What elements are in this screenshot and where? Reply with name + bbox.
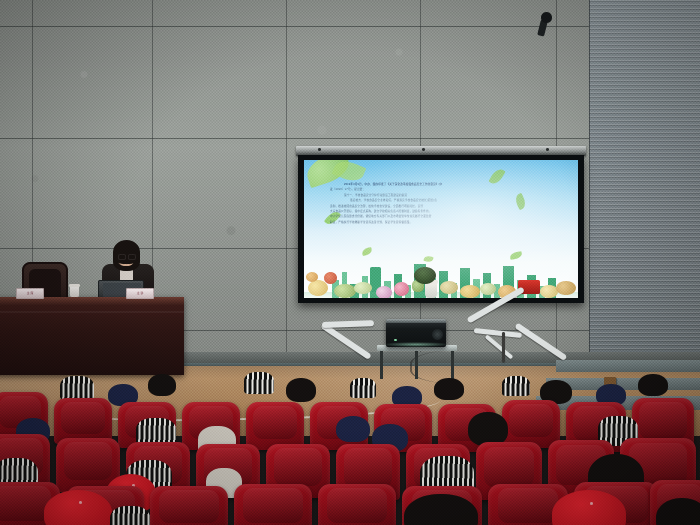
- auditorium-seat[interactable]: [150, 486, 228, 525]
- screen-frame: 2019年3月9日，中办、国办印发了《关于深化改革加强食品安全工作的意见》(中 …: [298, 155, 584, 303]
- audience-person: [638, 374, 668, 396]
- auditorium-seat[interactable]: [234, 484, 312, 525]
- projection-screen: 2019年3月9日，中办、国办印发了《关于深化改革加强食品安全工作的意见》(中 …: [296, 146, 586, 304]
- cap-button-dot: [590, 502, 593, 505]
- auditorium-photo: 2019年3月9日，中办、国办印发了《关于深化改革加强食品安全工作的意见》(中 …: [0, 0, 700, 525]
- head-table: [0, 297, 184, 375]
- projected-slide: 2019年3月9日，中办、国办印发了《关于深化改革加强食品安全工作的意见》(中 …: [304, 160, 578, 298]
- paper-cup: [70, 286, 79, 297]
- projector-lens-icon: [432, 329, 443, 340]
- audience-area: [0, 372, 700, 525]
- audience-person: [60, 376, 94, 400]
- projector-power-led: [394, 339, 397, 341]
- glasses-icon: [118, 254, 135, 258]
- security-camera-icon: [538, 12, 552, 32]
- auditorium-seat[interactable]: [502, 400, 560, 448]
- audience-person: [350, 378, 376, 398]
- auditorium-seat[interactable]: [318, 484, 396, 525]
- slide-line: 职责，严格执行学校教职学生营养改善计划，保证学生营养餐质量。: [330, 220, 554, 225]
- cap-button-dot: [79, 501, 82, 504]
- slide-text-block: 2019年3月9日，中办、国办印发了《关于深化改革加强食品安全工作的意见》(中 …: [330, 182, 554, 225]
- audience-person: [286, 378, 316, 402]
- audience-person: [244, 372, 274, 394]
- audience-person: [502, 376, 530, 396]
- audience-person: [468, 412, 508, 446]
- audience-person: [148, 374, 176, 396]
- nameplate-left: 主 席: [16, 288, 44, 299]
- audience-person: [434, 378, 464, 400]
- audience-person: [110, 506, 150, 525]
- tripod-center-pole: [502, 332, 505, 362]
- projector-light-glow: [382, 342, 450, 347]
- auditorium-seat[interactable]: [246, 402, 304, 450]
- audience-person: [336, 416, 370, 442]
- ribbed-wall-panel: [589, 0, 700, 372]
- nameplate-right: 主 讲: [126, 288, 154, 299]
